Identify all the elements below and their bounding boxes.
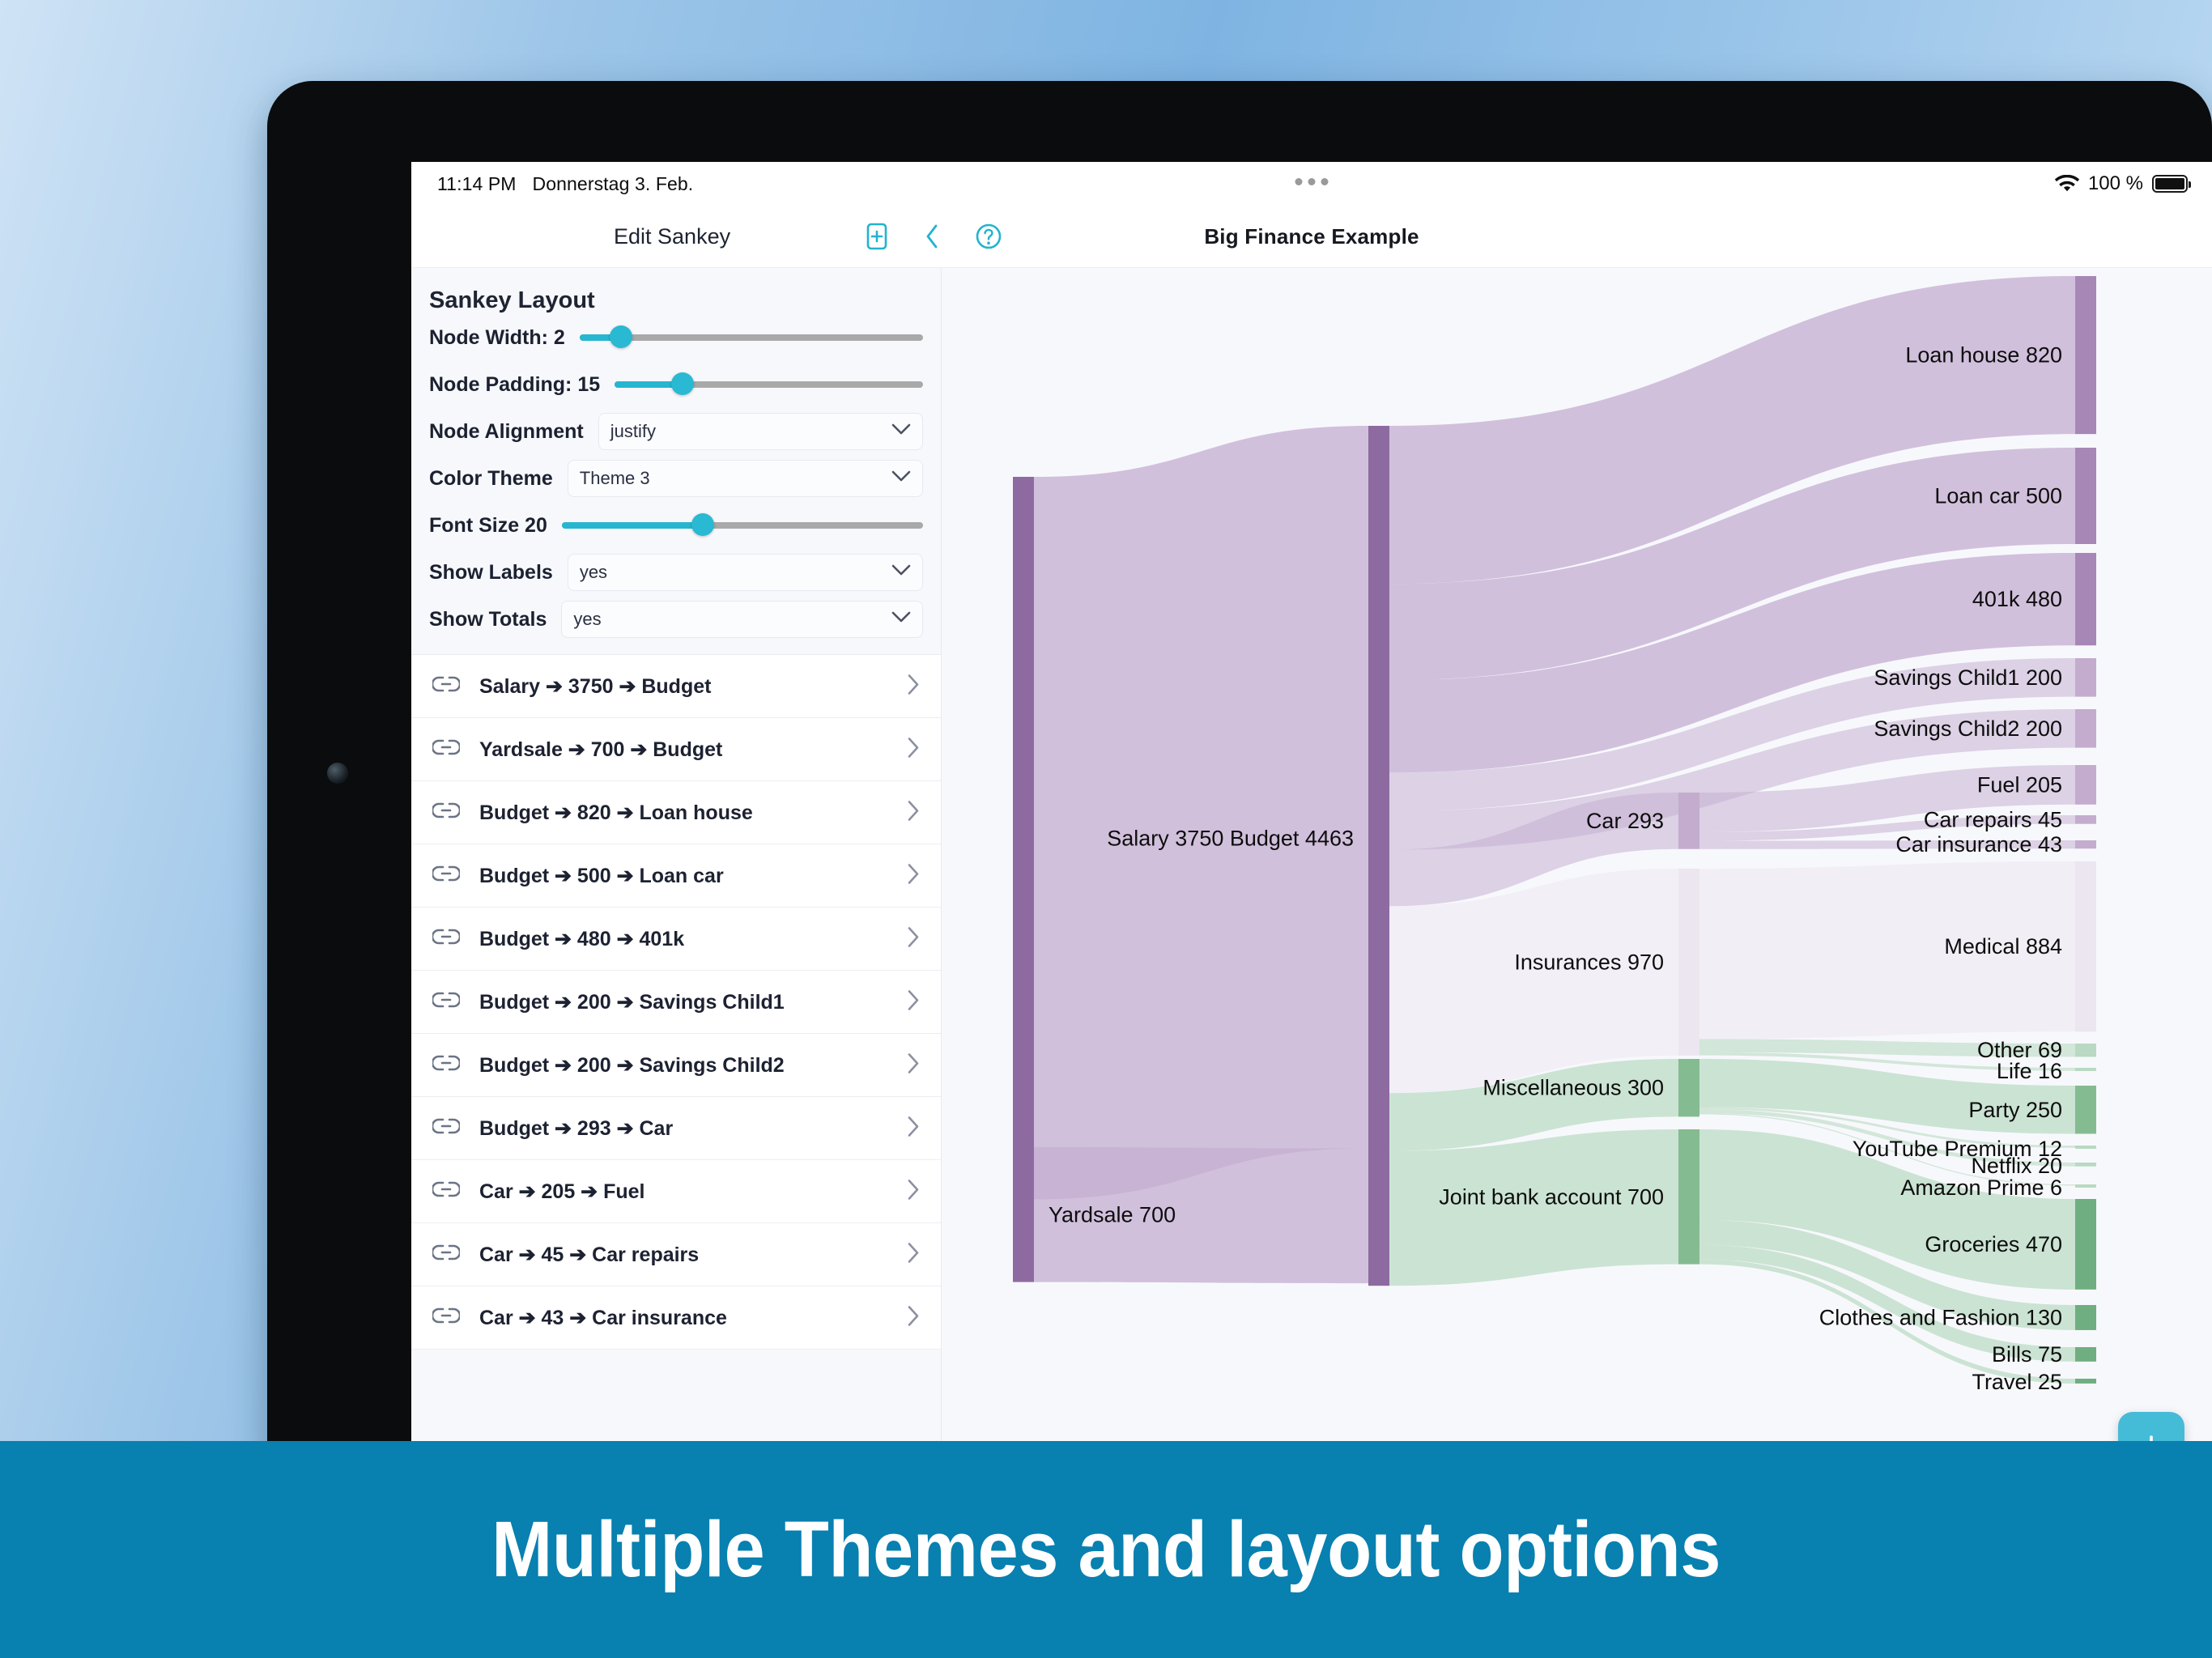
sankey-link-item[interactable]: Car ➔ 45 ➔ Car repairs (411, 1223, 941, 1286)
sankey-node[interactable] (2075, 861, 2096, 1031)
sankey-node[interactable] (2075, 1199, 2096, 1290)
sankey-node[interactable] (2075, 1305, 2096, 1330)
sankey-node[interactable] (2075, 553, 2096, 645)
font-size-row: Font Size 20 (411, 502, 941, 549)
sankey-node-label: Netflix 20 (1971, 1154, 2062, 1178)
sankey-chart-area[interactable]: Salary 3750 Budget 4463Yardsale 700Car 2… (942, 268, 2212, 1457)
link-chain-icon (432, 675, 460, 697)
sankey-node-label: Yardsale 700 (1049, 1202, 1176, 1226)
node-width-label: Node Width: 2 (429, 326, 565, 350)
sankey-node[interactable] (2075, 765, 2096, 805)
sankey-node-label: Fuel 205 (1977, 772, 2062, 797)
sankey-link-label: Budget ➔ 293 ➔ Car (479, 1116, 673, 1141)
tablet-screen: 11:14 PM Donnerstag 3. Feb. 100 % (411, 162, 2212, 1457)
sankey-node[interactable] (2075, 1184, 2096, 1188)
document-title: Big Finance Example (1204, 224, 1419, 249)
dot (1321, 178, 1329, 185)
chevron-right-icon[interactable] (907, 799, 920, 826)
show-totals-label: Show Totals (429, 608, 547, 631)
link-chain-icon (432, 1180, 460, 1202)
slider-knob[interactable] (691, 513, 714, 536)
sankey-node-label: Loan car 500 (1934, 484, 2062, 508)
slider-knob[interactable] (671, 372, 694, 395)
sankey-node[interactable] (1368, 426, 1389, 1286)
sankey-node-label: Medical 884 (1944, 934, 2062, 959)
panel-title: Sankey Layout (411, 268, 941, 314)
sankey-layout-sidebar: Sankey Layout Node Width: 2 Node Padding… (411, 268, 942, 1457)
link-chain-icon (432, 1117, 460, 1139)
link-chain-icon (432, 738, 460, 760)
sankey-node-label: Savings Child1 200 (1874, 665, 2062, 690)
sankey-node[interactable] (1678, 869, 1699, 1056)
color-theme-value: Theme 3 (580, 468, 650, 489)
sankey-node-label: Bills 75 (1992, 1342, 2062, 1367)
promo-banner-text: Multiple Themes and layout options (491, 1504, 1721, 1595)
chevron-right-icon[interactable] (907, 988, 920, 1015)
link-chain-icon (432, 1054, 460, 1076)
sankey-node-label: 401k 480 (1972, 587, 2062, 611)
main-content: Sankey Layout Node Width: 2 Node Padding… (411, 268, 2212, 1457)
edit-sankey-title: Edit Sankey (614, 224, 730, 249)
sankey-node-label: Joint bank account 700 (1439, 1184, 1664, 1209)
sankey-link-label: Salary ➔ 3750 ➔ Budget (479, 674, 711, 699)
status-date: Donnerstag 3. Feb. (533, 173, 694, 195)
show-labels-row: Show Labels yes (411, 549, 941, 596)
sankey-node[interactable] (2075, 658, 2096, 697)
slider-fill (562, 522, 703, 529)
sankey-node[interactable] (2075, 709, 2096, 748)
font-size-label: Font Size 20 (429, 514, 547, 538)
sankey-node[interactable] (2075, 840, 2096, 848)
sankey-link-label: Yardsale ➔ 700 ➔ Budget (479, 738, 722, 762)
sankey-link-label: Budget ➔ 200 ➔ Savings Child1 (479, 990, 785, 1014)
sankey-node-label: Life 16 (1997, 1059, 2062, 1083)
sankey-link-item[interactable]: Budget ➔ 200 ➔ Savings Child2 (411, 1034, 941, 1097)
multitask-handle[interactable] (1295, 178, 1329, 185)
sankey-node[interactable] (2075, 1163, 2096, 1167)
sankey-node-label: Miscellaneous 300 (1482, 1076, 1664, 1100)
node-padding-row: Node Padding: 15 (411, 361, 941, 408)
sankey-link-label: Budget ➔ 500 ➔ Loan car (479, 864, 724, 888)
wifi-icon (2055, 175, 2079, 193)
sankey-node[interactable] (1013, 1147, 1034, 1282)
dot (1295, 178, 1303, 185)
battery-full-icon (2152, 175, 2188, 193)
sankey-link-item[interactable]: Budget ➔ 293 ➔ Car (411, 1097, 941, 1160)
sankey-node-label: Car insurance 43 (1895, 832, 2062, 857)
chevron-right-icon[interactable] (907, 1115, 920, 1141)
sankey-node[interactable] (2075, 1068, 2096, 1071)
sankey-node-label: Party 250 (1968, 1098, 2062, 1122)
sankey-node-label: Travel 25 (1972, 1370, 2062, 1394)
node-alignment-row: Node Alignment justify (411, 408, 941, 455)
sankey-node[interactable] (1013, 477, 1034, 1200)
battery-percent-label: 100 % (2088, 172, 2143, 195)
sankey-node[interactable] (2075, 448, 2096, 544)
link-chain-icon (432, 1243, 460, 1265)
chevron-down-icon (891, 423, 911, 440)
sankey-node-label: Car 293 (1586, 809, 1664, 833)
chevron-right-icon[interactable] (907, 925, 920, 952)
color-theme-label: Color Theme (429, 467, 553, 491)
add-document-icon[interactable] (865, 223, 889, 250)
navigation-bar: Edit Sankey (411, 206, 2212, 268)
node-width-slider[interactable] (580, 334, 923, 342)
sankey-link-list: Salary ➔ 3750 ➔ Budget Yardsale ➔ 700 ➔ … (411, 654, 941, 1350)
show-labels-label: Show Labels (429, 561, 553, 585)
sankey-node-label: Groceries 470 (1925, 1232, 2062, 1256)
font-size-slider[interactable] (562, 521, 923, 529)
sankey-node[interactable] (1678, 793, 1699, 849)
question-circle-icon[interactable] (975, 223, 1002, 250)
sankey-node-label: Salary 3750 Budget 4463 (1107, 826, 1354, 850)
sankey-diagram: Salary 3750 Budget 4463Yardsale 700Car 2… (942, 268, 2212, 1457)
dot (1308, 178, 1316, 185)
chevron-right-icon[interactable] (907, 673, 920, 699)
sankey-link-label: Budget ➔ 820 ➔ Loan house (479, 801, 753, 825)
chevron-right-icon[interactable] (907, 1241, 920, 1268)
chevron-right-icon[interactable] (907, 1178, 920, 1205)
chevron-right-icon[interactable] (907, 862, 920, 889)
tablet-frame: 11:14 PM Donnerstag 3. Feb. 100 % (267, 81, 2212, 1457)
sankey-node-label: Savings Child2 200 (1874, 716, 2062, 741)
sankey-link-item[interactable]: Budget ➔ 480 ➔ 401k (411, 908, 941, 971)
sankey-link-item[interactable]: Car ➔ 43 ➔ Car insurance (411, 1286, 941, 1350)
chevron-right-icon[interactable] (907, 1304, 920, 1331)
status-time: 11:14 PM (437, 173, 517, 195)
link-chain-icon (432, 865, 460, 886)
node-padding-label: Node Padding: 15 (429, 373, 600, 397)
sankey-node[interactable] (2075, 1379, 2096, 1384)
node-alignment-select[interactable]: justify (598, 413, 923, 450)
link-chain-icon (432, 991, 460, 1013)
sankey-link-item[interactable]: Car ➔ 205 ➔ Fuel (411, 1160, 941, 1223)
chevron-down-icon (891, 564, 911, 580)
sankey-node-label: Amazon Prime 6 (1900, 1175, 2062, 1200)
node-alignment-value: justify (610, 421, 656, 442)
show-labels-select[interactable]: yes (568, 554, 923, 591)
sankey-node-label: Loan house 820 (1905, 343, 2062, 368)
link-chain-icon (432, 801, 460, 823)
sankey-link-item[interactable]: Budget ➔ 500 ➔ Loan car (411, 844, 941, 908)
show-labels-value: yes (580, 562, 607, 583)
sankey-link-label: Car ➔ 205 ➔ Fuel (479, 1180, 644, 1204)
link-chain-icon (432, 928, 460, 950)
sankey-node-label: Car repairs 45 (1924, 807, 2062, 831)
node-alignment-label: Node Alignment (429, 420, 584, 444)
link-chain-icon (432, 1307, 460, 1329)
sankey-node[interactable] (2075, 1146, 2096, 1149)
status-bar: 11:14 PM Donnerstag 3. Feb. 100 % (411, 162, 2212, 206)
sankey-node-label: Insurances 970 (1514, 950, 1664, 974)
sankey-link[interactable] (1034, 426, 1368, 1200)
show-totals-select[interactable]: yes (561, 601, 923, 638)
node-padding-slider[interactable] (615, 380, 923, 389)
show-totals-row: Show Totals yes (411, 596, 941, 643)
sankey-node[interactable] (2075, 1044, 2096, 1056)
chevron-right-icon[interactable] (907, 736, 920, 763)
sankey-node[interactable] (2075, 1086, 2096, 1134)
sankey-link-item[interactable]: Salary ➔ 3750 ➔ Budget (411, 655, 941, 718)
sankey-node[interactable] (2075, 276, 2096, 434)
node-width-row: Node Width: 2 (411, 314, 941, 361)
chevron-left-icon[interactable] (923, 223, 941, 250)
chevron-right-icon[interactable] (907, 1052, 920, 1078)
show-totals-value: yes (573, 609, 601, 630)
sankey-link-label: Budget ➔ 200 ➔ Savings Child2 (479, 1053, 785, 1078)
chevron-down-icon (891, 470, 911, 487)
sankey-link-item[interactable]: Budget ➔ 820 ➔ Loan house (411, 781, 941, 844)
chevron-down-icon (891, 611, 911, 627)
color-theme-row: Color Theme Theme 3 (411, 455, 941, 502)
slider-knob[interactable] (610, 325, 632, 348)
sankey-node[interactable] (1678, 1059, 1699, 1116)
color-theme-select[interactable]: Theme 3 (568, 460, 923, 497)
sankey-node[interactable] (1678, 1129, 1699, 1265)
promo-banner: Multiple Themes and layout options (0, 1441, 2212, 1658)
sankey-node[interactable] (2075, 815, 2096, 824)
sankey-node-label: Clothes and Fashion 130 (1819, 1305, 2062, 1329)
sankey-link-item[interactable]: Yardsale ➔ 700 ➔ Budget (411, 718, 941, 781)
sankey-link-item[interactable]: Budget ➔ 200 ➔ Savings Child1 (411, 971, 941, 1034)
sankey-link-label: Car ➔ 43 ➔ Car insurance (479, 1306, 727, 1330)
sankey-link-label: Budget ➔ 480 ➔ 401k (479, 927, 684, 951)
sankey-node[interactable] (2075, 1347, 2096, 1362)
sankey-link-label: Car ➔ 45 ➔ Car repairs (479, 1243, 699, 1267)
